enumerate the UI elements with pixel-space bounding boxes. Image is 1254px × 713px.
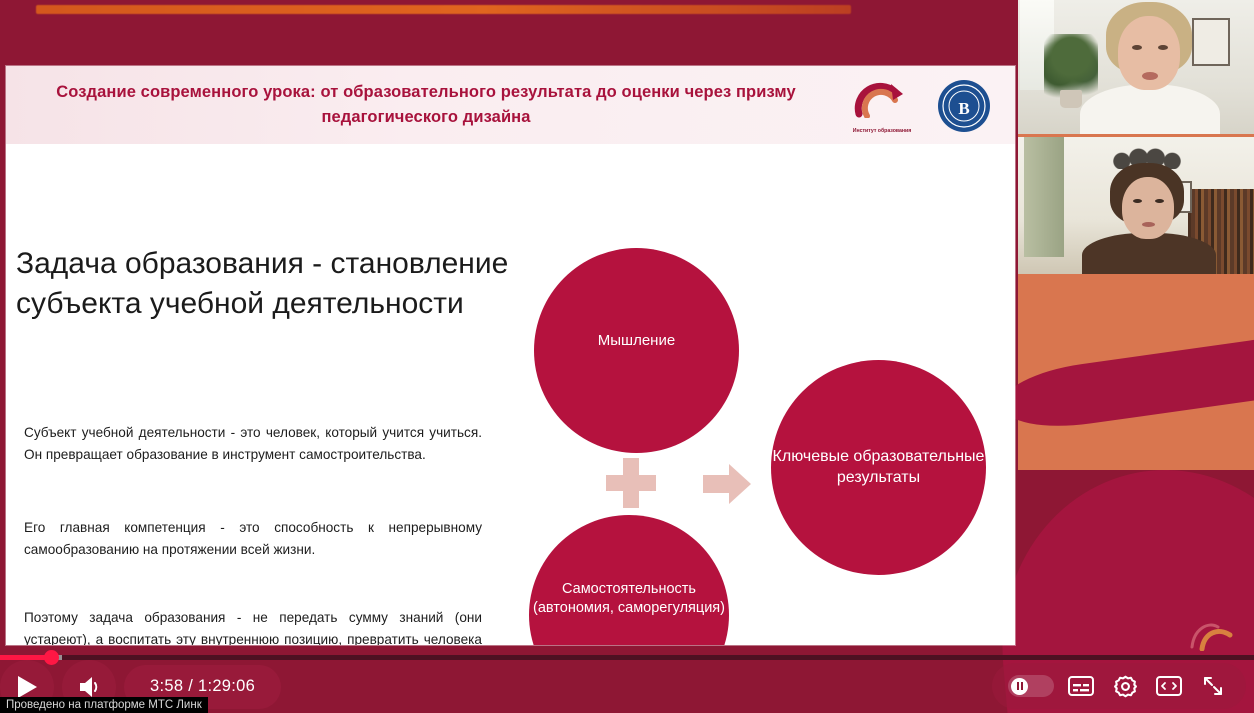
slide-header: Создание современного урока: от образова… xyxy=(6,66,1015,144)
bubble-autonomy-label: Самостоятельность (автономия, саморегуля… xyxy=(529,580,729,617)
embed-button[interactable] xyxy=(1152,669,1186,703)
decor-top-accent-bar xyxy=(36,5,851,14)
slide-title: Создание современного урока: от образова… xyxy=(6,80,806,130)
plant-decor xyxy=(1044,34,1098,98)
bubble-key-results-label: Ключевые образовательные результаты xyxy=(771,447,986,488)
decor-swirl-icon xyxy=(1184,617,1238,651)
code-icon xyxy=(1156,676,1182,696)
plus-icon xyxy=(603,455,659,511)
expand-icon xyxy=(1201,674,1225,698)
subtitles-icon xyxy=(1068,676,1094,696)
concept-diagram: Мышление Самостоятельность (автономия, с… xyxy=(511,240,1011,645)
svg-text:В: В xyxy=(958,99,969,118)
slide-paragraph-2: Его главная компетенция - это способност… xyxy=(24,517,482,561)
video-player-page: Создание современного урока: от образова… xyxy=(0,0,1254,713)
slide-paragraph-3: Поэтому задача образования - не передать… xyxy=(24,607,482,645)
bubble-autonomy: Самостоятельность (автономия, саморегуля… xyxy=(529,515,729,645)
picture-frame-decor xyxy=(1192,18,1230,66)
hse-logo: В xyxy=(937,79,991,133)
player-controls-right xyxy=(992,663,1246,709)
autoplay-toggle[interactable] xyxy=(1008,675,1054,697)
slide-body: Задача образования - становление субъект… xyxy=(6,144,1015,645)
volume-icon xyxy=(76,675,102,699)
slide-headline: Задача образования - становление субъект… xyxy=(16,244,516,323)
fullscreen-button[interactable] xyxy=(1196,669,1230,703)
subtitles-button[interactable] xyxy=(1064,669,1098,703)
institute-logo: Институт образования xyxy=(851,78,913,134)
bubble-key-results: Ключевые образовательные результаты xyxy=(771,360,986,575)
institute-logo-caption: Институт образования xyxy=(851,128,913,135)
presentation-slide: Создание современного урока: от образова… xyxy=(6,66,1015,645)
slide-paragraph-1: Субъект учебной деятельности - это челов… xyxy=(24,422,482,466)
gear-icon xyxy=(1113,674,1138,699)
participant-video-1[interactable] xyxy=(1018,0,1254,137)
slide-logos: Институт образования В xyxy=(851,78,991,134)
pause-toggle-icon xyxy=(1011,678,1028,695)
bubble-thinking: Мышление xyxy=(534,248,739,453)
bubble-thinking-label: Мышление xyxy=(598,331,675,350)
settings-button[interactable] xyxy=(1108,669,1142,703)
arrow-right-icon xyxy=(701,462,753,506)
caption-overlay: Проведено на платформе МТС Линк xyxy=(0,697,208,713)
participants-video-column xyxy=(1018,0,1254,274)
play-icon xyxy=(15,674,39,700)
participant-video-2[interactable] xyxy=(1018,137,1254,274)
